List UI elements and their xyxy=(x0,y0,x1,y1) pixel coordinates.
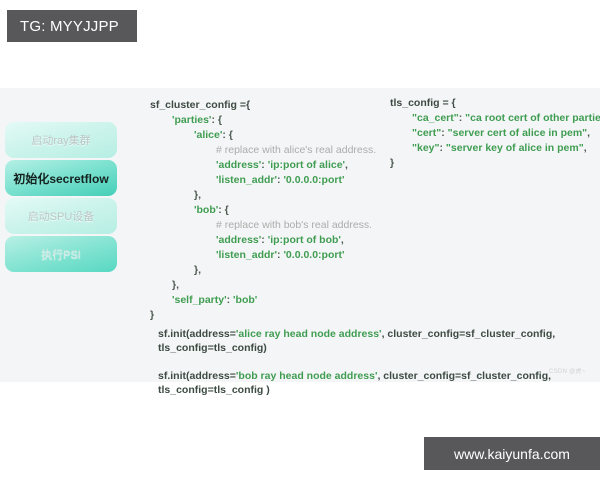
code-token: '0.0.0.0:port' xyxy=(283,174,344,186)
csdn-watermark: CSDN @虎~ xyxy=(549,366,586,375)
code-token: 'address' xyxy=(216,234,261,246)
step-button-label: 初始化secretflow xyxy=(13,170,108,187)
step-button-label: 启动SPU设备 xyxy=(28,208,95,224)
code-line xyxy=(158,355,555,369)
code-line: tls_config=tls_config ) xyxy=(158,383,555,397)
step-button-1[interactable]: 初始化secretflow xyxy=(5,160,117,196)
code-token: "key" xyxy=(412,142,439,154)
code-line: sf.init(address='bob ray head node addre… xyxy=(158,369,555,383)
step-button-2[interactable]: 启动SPU设备 xyxy=(5,198,117,234)
code-token: }, xyxy=(172,279,179,291)
code-token: tls_config=tls_config) xyxy=(158,342,267,354)
code-token: # replace with bob's real address. xyxy=(216,219,372,231)
code-token: }, xyxy=(194,189,201,201)
code-token: tls_config=tls_config ) xyxy=(158,384,270,396)
code-line: }, xyxy=(150,188,376,203)
tag-badge: TG: MYYJJPP xyxy=(7,10,137,42)
code-token: , xyxy=(587,127,590,139)
code-token: , xyxy=(584,142,587,154)
code-line: 'parties': { xyxy=(150,113,376,128)
code-line: "key": "server key of alice in pem", xyxy=(390,141,600,156)
tls-config-code-block: tls_config = {"ca_cert": "ca root cert o… xyxy=(390,96,600,171)
code-token: 'alice' xyxy=(194,129,222,141)
code-token: : { xyxy=(218,204,229,216)
code-token: : { xyxy=(211,114,222,126)
code-token: "server cert of alice in pem" xyxy=(448,127,588,139)
code-line: sf_cluster_config ={ xyxy=(150,98,376,113)
code-line: 'listen_addr': '0.0.0.0:port' xyxy=(150,173,376,188)
code-line: } xyxy=(150,308,376,323)
code-token: } xyxy=(390,157,394,169)
code-token: 'ip:port of alice' xyxy=(268,159,345,171)
code-token: '0.0.0.0:port' xyxy=(283,249,344,261)
code-token: sf.init(address= xyxy=(158,370,236,382)
code-token: "server key of alice in pem" xyxy=(446,142,584,154)
footer-site-bar: www.kaiyunfa.com xyxy=(424,437,600,470)
code-line: }, xyxy=(150,263,376,278)
step-button-label: 执行PSI xyxy=(41,246,81,262)
code-token: 'listen_addr' xyxy=(216,249,277,261)
code-line: tls_config=tls_config) xyxy=(158,341,555,355)
code-line: 'bob': { xyxy=(150,203,376,218)
code-token: , xyxy=(345,159,348,171)
code-token: : { xyxy=(222,129,233,141)
code-line: "ca_cert": "ca root cert of other partie… xyxy=(390,111,600,126)
tag-badge-label: TG: MYYJJPP xyxy=(20,18,119,35)
code-token: , cluster_config=sf_cluster_config, xyxy=(377,370,551,382)
code-token: 'alice ray head node address' xyxy=(236,328,382,340)
step-button-list: 启动ray集群初始化secretflow启动SPU设备执行PSI xyxy=(5,122,117,274)
code-token: 'listen_addr' xyxy=(216,174,277,186)
code-token: 'ip:port of bob' xyxy=(268,234,341,246)
step-button-0[interactable]: 启动ray集群 xyxy=(5,122,117,158)
code-line: 'listen_addr': '0.0.0.0:port' xyxy=(150,248,376,263)
code-token: "ca root cert of other parties " xyxy=(465,112,600,124)
code-line: 'address': 'ip:port of bob', xyxy=(150,233,376,248)
code-line: tls_config = { xyxy=(390,96,600,111)
code-token: "cert" xyxy=(412,127,441,139)
code-token: 'bob ray head node address' xyxy=(236,370,378,382)
code-line: } xyxy=(390,156,600,171)
code-line: 'address': 'ip:port of alice', xyxy=(150,158,376,173)
code-token: } xyxy=(150,309,154,321)
code-token: }, xyxy=(194,264,201,276)
code-line: }, xyxy=(150,278,376,293)
step-button-3[interactable]: 执行PSI xyxy=(5,236,117,272)
code-token: 'parties' xyxy=(172,114,211,126)
footer-url-label: www.kaiyunfa.com xyxy=(454,446,570,462)
code-line: # replace with alice's real address. xyxy=(150,143,376,158)
code-token: sf.init(address= xyxy=(158,328,236,340)
code-token: , cluster_config=sf_cluster_config, xyxy=(382,328,556,340)
code-line: # replace with bob's real address. xyxy=(150,218,376,233)
code-token: # replace with alice's real address. xyxy=(216,144,376,156)
cluster-config-code-block: sf_cluster_config ={'parties': {'alice':… xyxy=(150,98,376,323)
code-line: 'alice': { xyxy=(150,128,376,143)
code-token: 'self_party' xyxy=(172,294,227,306)
code-token: 'bob' xyxy=(233,294,257,306)
code-token: 'bob' xyxy=(194,204,218,216)
code-token: "ca_cert" xyxy=(412,112,459,124)
step-button-label: 启动ray集群 xyxy=(31,132,90,148)
code-line: sf.init(address='alice ray head node add… xyxy=(158,327,555,341)
code-token: sf_cluster_config ={ xyxy=(150,99,250,111)
sf-init-code-block: sf.init(address='alice ray head node add… xyxy=(158,327,555,397)
code-token: 'address' xyxy=(216,159,261,171)
code-line: 'self_party': 'bob' xyxy=(150,293,376,308)
code-line: "cert": "server cert of alice in pem", xyxy=(390,126,600,141)
code-token: tls_config = { xyxy=(390,97,456,109)
code-token: , xyxy=(341,234,344,246)
